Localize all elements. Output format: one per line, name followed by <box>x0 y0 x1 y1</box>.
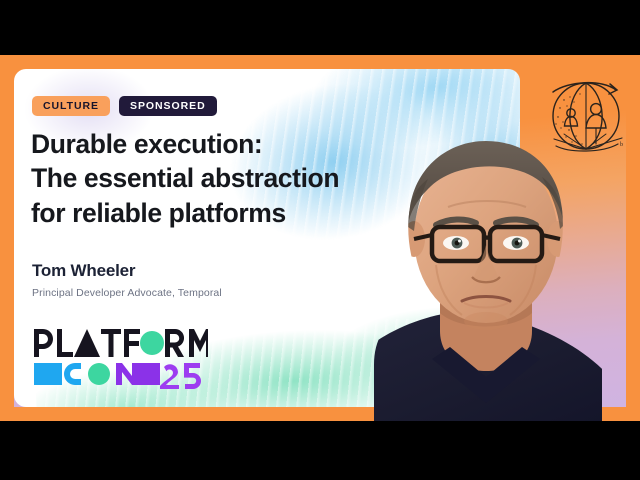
speaker-role: Principal Developer Advocate, Temporal <box>32 287 222 299</box>
letterbox-top-bar <box>0 0 640 55</box>
video-frame: b CULTURE SPONSORED Durable execution: T… <box>0 0 640 480</box>
badge-sponsored[interactable]: SPONSORED <box>119 96 217 116</box>
logo-block-purple <box>132 363 160 385</box>
logo-year-25 <box>160 363 201 389</box>
speaker-photo <box>344 115 606 421</box>
logo-platform-word <box>34 329 208 357</box>
svg-text:b: b <box>620 142 623 148</box>
logo-letter-c <box>64 363 81 385</box>
speaker-name: Tom Wheeler <box>32 261 222 281</box>
speaker-block: Tom Wheeler Principal Developer Advocate… <box>32 261 222 299</box>
platformcon-logo <box>32 327 208 389</box>
logo-block-blue <box>34 363 62 385</box>
badge-culture[interactable]: CULTURE <box>32 96 110 116</box>
logo-letter-o-2 <box>88 363 110 385</box>
logo-letter-o <box>140 331 164 355</box>
letterbox-bottom-bar <box>0 421 640 480</box>
badge-group: CULTURE SPONSORED <box>32 96 217 116</box>
slide-canvas: b CULTURE SPONSORED Durable execution: T… <box>0 55 640 421</box>
